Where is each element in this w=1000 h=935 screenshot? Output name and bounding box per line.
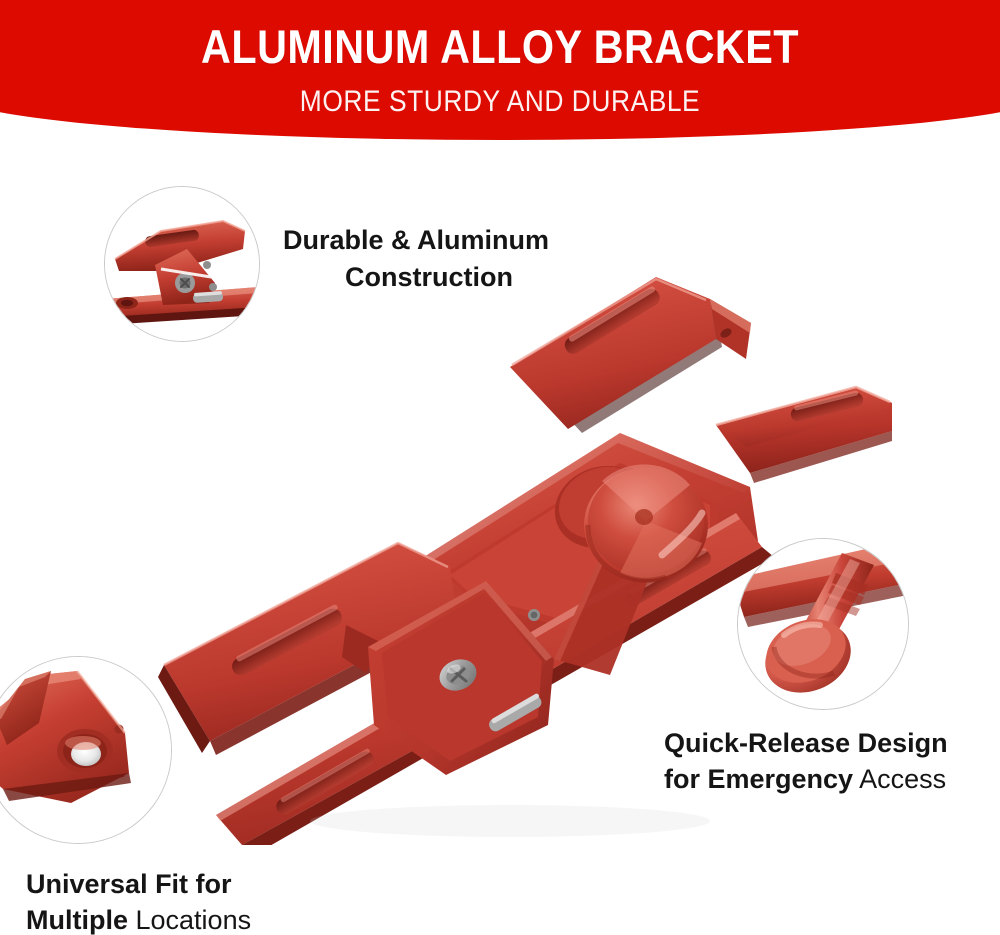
bracket-mount-hole-closeup-photo: [0, 657, 171, 843]
callout-durable-line1: Durable & Aluminum: [283, 222, 549, 259]
callout-durable-line2: Construction: [345, 262, 513, 292]
banner-title: ALUMINUM ALLOY BRACKET: [60, 23, 940, 70]
callout-circle-universal-fit: [0, 656, 172, 844]
header-banner: ALUMINUM ALLOY BRACKET MORE STURDY AND D…: [0, 0, 1000, 140]
callout-universal-line1: Universal Fit for: [26, 866, 251, 902]
banner-text-group: ALUMINUM ALLOY BRACKET MORE STURDY AND D…: [0, 0, 1000, 117]
right-wing-rail: [716, 387, 892, 483]
callout-label-durable: Durable & Aluminum Construction: [283, 222, 549, 296]
callout-circle-quick-release: [737, 538, 909, 710]
upper-rail: [510, 277, 751, 433]
callout-quick-line2: for Emergency: [664, 764, 853, 794]
callout-quick-line1: Quick-Release Design: [664, 725, 948, 761]
bracket-hinge-closeup-photo: [105, 187, 259, 341]
quick-release-pin-closeup-photo: [738, 539, 908, 709]
callout-universal-line2: Multiple: [26, 905, 128, 935]
callout-universal-line2-regular: Locations: [128, 905, 251, 935]
banner-subtitle: MORE STURDY AND DURABLE: [60, 87, 940, 117]
callout-label-quick-release: Quick-Release Design for Emergency Acces…: [664, 725, 948, 797]
callout-circle-durable: [104, 186, 260, 342]
callout-quick-line2-regular: Access: [853, 764, 946, 794]
callout-label-universal-fit: Universal Fit for Multiple Locations: [26, 866, 251, 935]
infographic-canvas: ALUMINUM ALLOY BRACKET MORE STURDY AND D…: [0, 0, 1000, 935]
